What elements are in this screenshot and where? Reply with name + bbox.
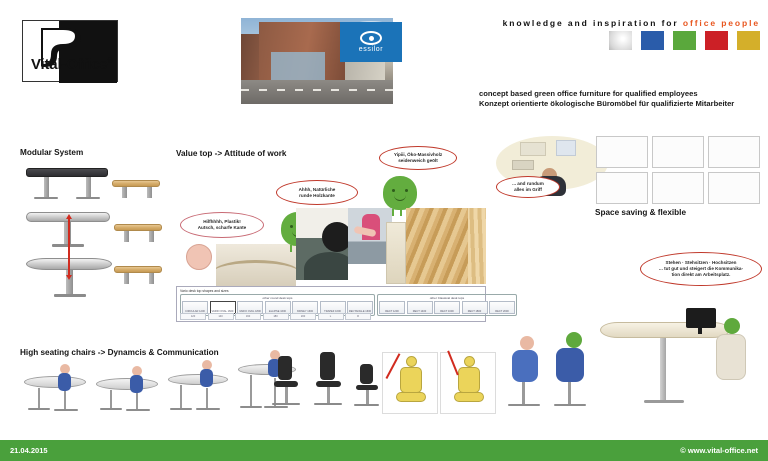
edge-curve	[216, 260, 296, 286]
ergo-torso	[458, 367, 480, 393]
bubble-oil-line2: seidenweich geölt	[398, 158, 438, 163]
ergo-head	[464, 356, 475, 367]
building-left	[241, 34, 261, 80]
concept-statement: concept based green office furniture for…	[479, 89, 759, 108]
table-foot	[54, 294, 86, 297]
photo-wood-grain	[406, 208, 468, 284]
table-top	[114, 224, 162, 231]
seating-table-base	[240, 406, 262, 408]
smiley-mouth	[394, 195, 406, 201]
seating-table-post	[250, 375, 252, 406]
bubble-grip-line2: alles im Griff	[514, 187, 542, 192]
seating-person-body	[58, 373, 71, 391]
bubble-wood-edge-text: Ahhh, Natürliche runde Holzkante	[299, 187, 336, 199]
desk-cell[interactable]: RECT 1600	[434, 301, 460, 314]
scene-desk-foot	[644, 400, 684, 403]
desk-footer-cell: 120	[180, 313, 206, 320]
table-modular-1	[26, 168, 108, 204]
desk-footer-cell: R	[345, 313, 371, 320]
bubble-grip-line1: ... and rundum	[512, 181, 544, 186]
table-column	[44, 177, 49, 197]
seated-person-head-green	[566, 332, 582, 348]
layout-thumbnail-1[interactable]	[596, 136, 648, 168]
chair-backrest	[278, 356, 292, 380]
table-column	[149, 231, 154, 242]
scene-chair-base-2	[508, 404, 540, 406]
table-column	[124, 231, 129, 242]
chair-base	[272, 403, 300, 405]
scene-chair-post-2	[522, 382, 525, 404]
desk-group-classical-cells: RECT 1200 RECT 1400 RECT 1600 RECT 1800 …	[379, 301, 515, 314]
scene-chair-post	[568, 382, 571, 404]
tagline-main: knowledge and inspiration for	[503, 18, 679, 28]
color-swatch-row	[609, 31, 760, 50]
desk-footer-cell: 140	[208, 313, 234, 320]
layout-thumbnail-5[interactable]	[652, 172, 704, 204]
logo-registered-mark: ®	[108, 56, 114, 65]
footer-bar: 21.04.2015 © www.vital-office.net	[0, 440, 768, 461]
table-column	[124, 273, 129, 284]
chair-base	[314, 403, 342, 405]
smiley-eye-right	[405, 189, 408, 192]
swatch-white	[609, 31, 632, 50]
chair-backrest	[320, 352, 335, 380]
office-chair-3	[350, 364, 384, 412]
chair-post	[327, 387, 330, 403]
desk-blob	[304, 252, 348, 280]
essilor-wordmark: essilor	[359, 46, 383, 53]
seating-chair-post	[206, 388, 208, 408]
scene-chair-base	[554, 404, 586, 406]
desk-cell[interactable]: RECT 2000	[489, 301, 515, 314]
desk-cell[interactable]: RECT 1800	[462, 301, 488, 314]
desk-group-classical-label: other Classical desk tops	[379, 296, 515, 300]
photo-dark-desk	[296, 208, 348, 280]
heading-modular-system: Modular System	[20, 148, 83, 157]
scene-desk-post	[660, 338, 666, 400]
seating-person-body	[130, 375, 143, 393]
seating-person-body	[200, 369, 213, 387]
seating-table-post	[180, 385, 182, 408]
bubble-standing-line1: Stehen · Stehsitzen · Hochsitzen	[666, 260, 737, 265]
desk-group-classical: other Classical desk tops RECT 1200 RECT…	[377, 294, 517, 316]
layout-thumbnail-2[interactable]	[652, 136, 704, 168]
essilor-logo: essilor	[340, 22, 402, 62]
table-modular-wood-2	[114, 224, 162, 244]
heading-value-top: Value top -> Attitude of work	[176, 149, 286, 158]
bubble-plastic-line2: Autsch, scharfe Kante	[198, 225, 247, 230]
bubble-wood-line1: Ahhh, Natürliche	[299, 187, 336, 192]
ergo-legs	[454, 392, 484, 402]
table-top	[26, 168, 108, 177]
bubble-oiled-wood: Yipiii, Öko-Massivholz seidenweich geölt	[379, 146, 457, 170]
desk-footer-cell: 160	[235, 313, 261, 320]
logo-wordmark: Vital-Office®	[31, 56, 113, 73]
desk-table-title: Vario desk top shapes and sizes	[180, 289, 229, 293]
photo-sample-strip	[386, 222, 406, 284]
smiley-eye-left	[392, 189, 395, 192]
seating-table-base	[170, 408, 192, 410]
seated-person-head-2	[520, 336, 534, 350]
desk-footer-cell: L	[318, 313, 344, 320]
smiley-leg	[400, 209, 402, 216]
table-column	[122, 187, 127, 198]
ergo-head	[406, 356, 417, 367]
photo-plastic-edge	[216, 244, 296, 288]
desk-item-paper	[520, 142, 546, 156]
footer-url[interactable]: © www.vital-office.net	[680, 446, 758, 455]
layout-thumbnail-4[interactable]	[596, 172, 648, 204]
heading-space-saving: Space saving & flexible	[595, 208, 686, 217]
layout-thumbnail-3[interactable]	[708, 136, 760, 168]
seating-table-base	[100, 408, 122, 410]
desk-cell[interactable]: RECT 1400	[407, 301, 433, 314]
table-column	[86, 177, 91, 197]
bubble-oil-line1: Yipiii, Öko-Massivholz	[394, 152, 442, 157]
height-adjust-arrow	[68, 218, 70, 276]
swatch-red	[705, 31, 728, 50]
seating-chair-post	[136, 393, 138, 409]
smiley-eye-left	[290, 225, 293, 228]
desk-dark-element	[322, 222, 348, 252]
seating-chair-base	[126, 409, 150, 411]
seating-table	[168, 374, 228, 385]
slide-page: Vital-Office® essilor knowledge and insp…	[0, 0, 768, 461]
desk-shape-size-table: Vario desk top shapes and sizes other ro…	[176, 286, 486, 322]
desk-item-screen	[556, 140, 576, 156]
chair-post	[366, 390, 369, 404]
standing-person-body	[716, 334, 746, 380]
bubble-standing-text: Stehen · Stehsitzen · Hochsitzen ... tut…	[659, 260, 743, 278]
chair-base	[354, 404, 379, 406]
ergo-torso	[400, 367, 422, 393]
logo-word-text: Vital-Office	[31, 56, 108, 73]
bubble-wood-line2: runde Holzkante	[299, 193, 335, 198]
table-column	[149, 273, 154, 284]
seated-person-body-blue	[556, 348, 584, 382]
seating-table-post	[110, 390, 112, 408]
essilor-eye-icon	[360, 31, 382, 45]
desk-table-footer-row: 120 140 160 180 200 L R	[180, 313, 371, 320]
bubble-plastic-text: Hilfhhhh, Plastik! Autsch, scharfe Kante	[198, 219, 247, 231]
table-foot	[34, 197, 58, 199]
tagline: knowledge and inspiration for office peo…	[503, 18, 760, 28]
seated-person-body-2	[512, 350, 538, 382]
tagline-accent: office people	[683, 18, 760, 28]
table-modular-wood-1	[112, 180, 160, 200]
photo-wood-edge-detail	[468, 208, 486, 284]
concept-line-german: Konzept orientierte ökologische Büromöbe…	[479, 99, 759, 109]
seating-table-base	[28, 408, 50, 410]
bubble-everything-in-reach: ... and rundum alles im Griff	[496, 176, 560, 198]
bubble-standing-sitting: Stehen · Stehsitzen · Hochsitzen ... tut…	[640, 252, 762, 286]
desk-group-round-label: other round desk tops	[182, 296, 373, 300]
ergo-legs	[396, 392, 426, 402]
bubble-standing-line2: ... tut gut und steigert die Kommunika-	[659, 266, 743, 271]
office-chair-1	[266, 356, 306, 412]
street	[241, 80, 393, 104]
smiley-leg	[392, 209, 394, 216]
heading-high-seating-chairs: High seating chairs -> Dynamcis & Commun…	[20, 348, 219, 357]
footer-date: 21.04.2015	[10, 446, 48, 455]
seating-chair-post	[64, 391, 66, 409]
swatch-green	[673, 31, 696, 50]
scene-monitor	[686, 308, 716, 328]
seating-table	[96, 378, 158, 390]
table-modular-wood-3	[114, 266, 162, 286]
concept-line-english: concept based green office furniture for…	[479, 89, 759, 99]
desk-footer-cell: 200	[290, 313, 316, 320]
seating-table	[24, 376, 86, 388]
bubble-oiled-wood-text: Yipiii, Öko-Massivholz seidenweich geölt	[394, 152, 442, 164]
standing-person-head	[724, 318, 740, 334]
seating-chair-base	[54, 409, 78, 411]
chair-backrest	[360, 364, 373, 384]
seating-chair-base	[196, 408, 220, 410]
bubble-plastic-line1: Hilfhhhh, Plastik!	[203, 219, 241, 224]
table-top	[112, 180, 160, 187]
smiley-leg	[290, 245, 292, 252]
bubble-grip-text: ... and rundum alles im Griff	[512, 181, 544, 193]
building-glass-facade	[271, 52, 325, 82]
table-foot	[76, 197, 100, 199]
desk-cell[interactable]: RECT 1200	[379, 301, 405, 314]
unhappy-face	[186, 244, 212, 270]
table-column	[147, 187, 152, 198]
vital-office-logo: Vital-Office®	[22, 20, 118, 82]
table-top	[114, 266, 162, 273]
layout-thumbnail-6[interactable]	[708, 172, 760, 204]
seating-table-post	[38, 388, 40, 408]
chair-post	[285, 387, 288, 403]
desk-footer-cell: 180	[263, 313, 289, 320]
smiley-face-oiled-wood	[383, 176, 417, 210]
bubble-plastic-complaint: Hilfhhhh, Plastik! Autsch, scharfe Kante	[180, 212, 264, 238]
office-chair-2	[308, 352, 348, 412]
swatch-blue	[641, 31, 664, 50]
bubble-standing-line3: tion direkt am Arbeitsplatz.	[672, 272, 731, 277]
scene-monitor-stand	[698, 328, 702, 334]
bubble-wood-edge: Ahhh, Natürliche runde Holzkante	[276, 180, 358, 205]
swatch-gold	[737, 31, 760, 50]
